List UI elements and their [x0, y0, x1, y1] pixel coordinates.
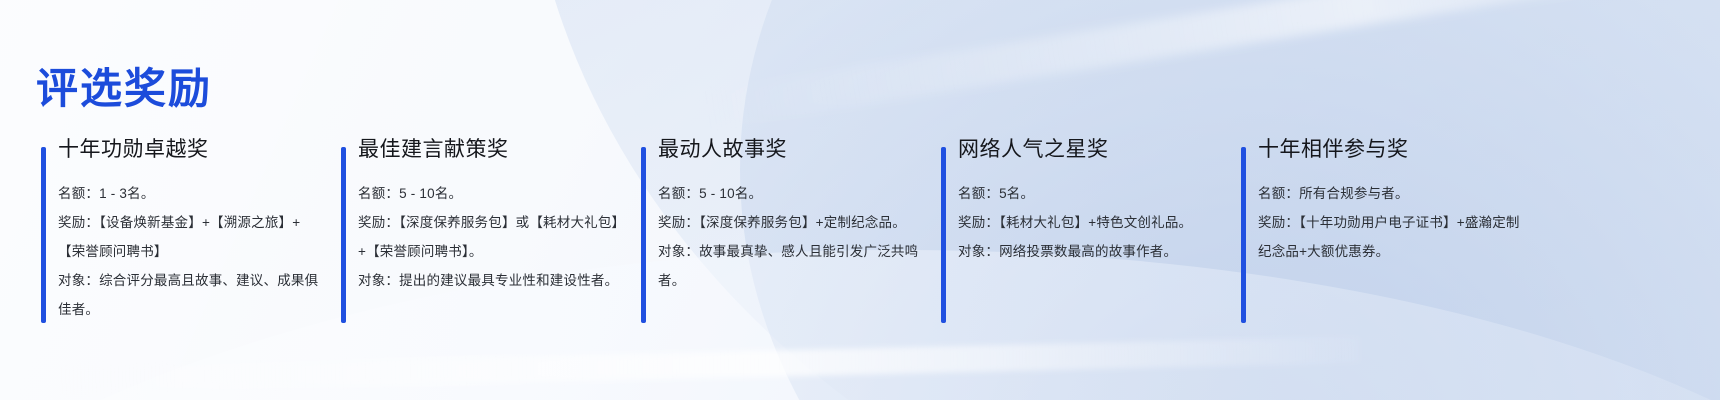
- award-prize-line: 奖励：【设备焕新基金】+【溯源之旅】+【荣誉顾问聘书】: [58, 208, 320, 266]
- award-quota-line: 名额：5 - 10名。: [658, 179, 920, 208]
- award-card-3: 最动人故事奖 名额：5 - 10名。 奖励：【深度保养服务包】+定制纪念品。 对…: [638, 125, 938, 325]
- page-title: 评选奖励: [36, 66, 212, 112]
- award-target-line: 对象：综合评分最高且故事、建议、成果俱佳者。: [58, 266, 320, 324]
- accent-bar: [941, 147, 946, 323]
- award-prize-line: 奖励：【深度保养服务包】或【耗材大礼包】+【荣誉顾问聘书】。: [358, 208, 620, 266]
- award-title: 网络人气之星奖: [958, 137, 1238, 163]
- award-details: 名额：1 - 3名。 奖励：【设备焕新基金】+【溯源之旅】+【荣誉顾问聘书】 对…: [58, 179, 338, 324]
- award-card-4: 网络人气之星奖 名额：5名。 奖励：【耗材大礼包】+特色文创礼品。 对象：网络投…: [938, 125, 1238, 325]
- award-quota-line: 名额：5名。: [958, 179, 1220, 208]
- award-details: 名额：5名。 奖励：【耗材大礼包】+特色文创礼品。 对象：网络投票数最高的故事作…: [958, 179, 1238, 266]
- accent-bar: [1241, 147, 1246, 323]
- awards-row: 十年功勋卓越奖 名额：1 - 3名。 奖励：【设备焕新基金】+【溯源之旅】+【荣…: [38, 125, 1688, 325]
- accent-bar: [41, 147, 46, 323]
- poster-canvas: 评选奖励 十年功勋卓越奖 名额：1 - 3名。 奖励：【设备焕新基金】+【溯源之…: [0, 0, 1720, 400]
- award-card-5: 十年相伴参与奖 名额：所有合规参与者。 奖励：【十年功勋用户电子证书】+盛瀚定制…: [1238, 125, 1538, 325]
- award-card-1: 十年功勋卓越奖 名额：1 - 3名。 奖励：【设备焕新基金】+【溯源之旅】+【荣…: [38, 125, 338, 325]
- award-prize-line: 奖励：【耗材大礼包】+特色文创礼品。: [958, 208, 1220, 237]
- award-card-2: 最佳建言献策奖 名额：5 - 10名。 奖励：【深度保养服务包】或【耗材大礼包】…: [338, 125, 638, 325]
- award-quota-line: 名额：1 - 3名。: [58, 179, 320, 208]
- award-details: 名额：所有合规参与者。 奖励：【十年功勋用户电子证书】+盛瀚定制纪念品+大额优惠…: [1258, 179, 1538, 266]
- award-details: 名额：5 - 10名。 奖励：【深度保养服务包】+定制纪念品。 对象：故事最真挚…: [658, 179, 938, 295]
- award-target-line: 对象：故事最真挚、感人且能引发广泛共鸣者。: [658, 237, 920, 295]
- accent-bar: [341, 147, 346, 323]
- background-streak-upper: [704, 0, 1720, 129]
- award-prize-line: 奖励：【深度保养服务包】+定制纪念品。: [658, 208, 920, 237]
- award-quota-line: 名额：所有合规参与者。: [1258, 179, 1520, 208]
- award-title: 十年相伴参与奖: [1258, 137, 1538, 163]
- award-quota-line: 名额：5 - 10名。: [358, 179, 620, 208]
- award-details: 名额：5 - 10名。 奖励：【深度保养服务包】或【耗材大礼包】+【荣誉顾问聘书…: [358, 179, 638, 295]
- background-streak-lower: [60, 337, 1360, 394]
- award-target-line: 对象：网络投票数最高的故事作者。: [958, 237, 1220, 266]
- accent-bar: [641, 147, 646, 323]
- award-prize-line: 奖励：【十年功勋用户电子证书】+盛瀚定制纪念品+大额优惠券。: [1258, 208, 1520, 266]
- award-title: 最佳建言献策奖: [358, 137, 638, 163]
- award-title: 最动人故事奖: [658, 137, 938, 163]
- award-target-line: 对象：提出的建议最具专业性和建设性者。: [358, 266, 620, 295]
- award-title: 十年功勋卓越奖: [58, 137, 338, 163]
